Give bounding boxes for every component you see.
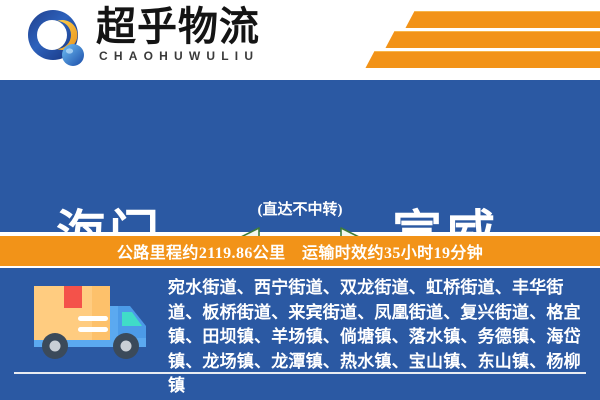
brand-name: 超乎物流 bbox=[96, 5, 260, 49]
speed-stripes-icon bbox=[330, 0, 600, 76]
bottom-divider bbox=[14, 372, 586, 374]
stripe-3 bbox=[365, 51, 600, 68]
delivery-truck-icon bbox=[22, 282, 150, 364]
route-info-bar: 公路里程约2119.86公里 运输时效约35小时19分钟 bbox=[0, 236, 600, 266]
stripe-1 bbox=[405, 11, 600, 28]
distance-and-duration-text: 公路里程约2119.86公里 运输时效约35小时19分钟 bbox=[117, 239, 483, 263]
chaohu-circle-logo-icon bbox=[26, 8, 88, 70]
logistics-route-banner: 超乎物流 CHAOHUWULIU 海门 (直达不中转) 【往返运输】 宣威 公路… bbox=[0, 0, 600, 400]
banner-header: 超乎物流 CHAOHUWULIU bbox=[0, 0, 600, 76]
direct-route-note: (直达不中转) bbox=[225, 198, 375, 219]
route-panel: 海门 (直达不中转) 【往返运输】 宣威 bbox=[0, 80, 600, 232]
brand-pinyin: CHAOHUWULIU bbox=[99, 49, 259, 63]
coverage-areas-text: 宛水街道、西宁街道、双龙街道、虹桥街道、丰华街道、板桥街道、来宾街道、凤凰街道、… bbox=[168, 276, 592, 399]
stripe-2 bbox=[385, 31, 600, 48]
